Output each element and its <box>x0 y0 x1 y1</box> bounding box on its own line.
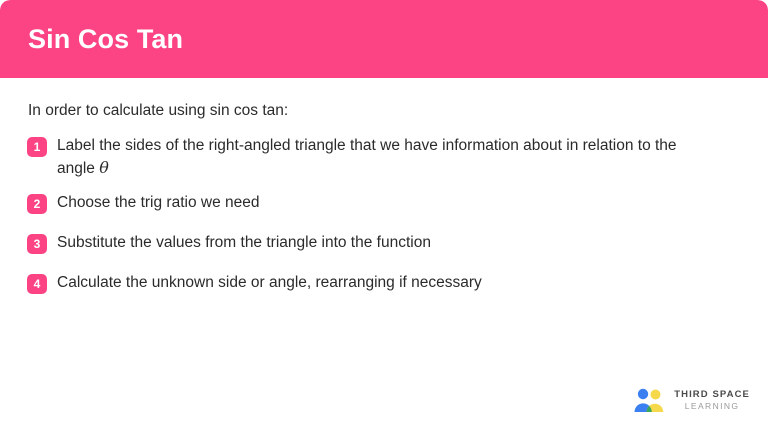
step-text: Substitute the values from the triangle … <box>57 232 431 254</box>
step-text: Calculate the unknown side or angle, rea… <box>57 272 482 294</box>
list-item: 2 Choose the trig ratio we need <box>27 192 727 214</box>
logo-line-2: LEARNING <box>674 402 750 411</box>
list-item: 1 Label the sides of the right-angled tr… <box>27 135 727 180</box>
step-text-main: Substitute the values from the triangle … <box>57 234 431 251</box>
people-logo-icon <box>632 387 666 413</box>
card-body: In order to calculate using sin cos tan:… <box>0 78 768 435</box>
step-text-main: Choose the trig ratio we need <box>57 194 259 211</box>
step-number-badge: 2 <box>27 194 47 214</box>
step-number-badge: 3 <box>27 234 47 254</box>
intro-text: In order to calculate using sin cos tan: <box>28 101 288 122</box>
step-text-main: Calculate the unknown side or angle, rea… <box>57 274 482 291</box>
steps-list: 1 Label the sides of the right-angled tr… <box>27 135 727 312</box>
lesson-card: Sin Cos Tan In order to calculate using … <box>0 0 768 435</box>
theta-symbol: θ <box>99 158 109 177</box>
step-text-main: Label the sides of the right-angled tria… <box>57 137 677 177</box>
logo-wordmark: THIRD SPACE LEARNING <box>674 390 750 411</box>
third-space-learning-logo: THIRD SPACE LEARNING <box>632 387 750 413</box>
step-text: Choose the trig ratio we need <box>57 192 259 214</box>
page-title: Sin Cos Tan <box>28 26 183 53</box>
logo-line-1: THIRD SPACE <box>674 390 750 400</box>
step-number-badge: 4 <box>27 274 47 294</box>
step-text: Label the sides of the right-angled tria… <box>57 135 717 180</box>
list-item: 4 Calculate the unknown side or angle, r… <box>27 272 727 294</box>
card-header: Sin Cos Tan <box>0 0 768 78</box>
list-item: 3 Substitute the values from the triangl… <box>27 232 727 254</box>
step-number-badge: 1 <box>27 137 47 157</box>
